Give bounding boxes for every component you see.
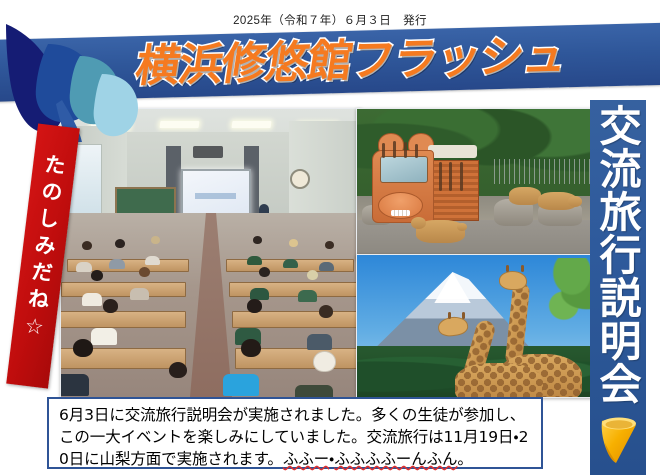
side-band-title: 交流旅行説明会 — [592, 104, 642, 405]
photo-lecture-hall — [60, 108, 362, 398]
article-body: 6月3日に交流旅行説明会が実施されました。多くの生徒が参加し、この一大イベントを… — [59, 404, 533, 470]
photo-giraffes-mount-fuji — [356, 254, 603, 398]
side-band-subtitle: 友だち作ろうぜ！ — [656, 72, 660, 224]
photo-collage — [60, 108, 600, 396]
article-misspelling-a: ふふー — [283, 450, 329, 468]
article-line-3-plain: 実施されます。 — [177, 450, 283, 468]
masthead-title: 横浜修悠館フラッシュ — [133, 34, 570, 89]
side-title-band: 交流旅行説明会 — [590, 100, 646, 475]
article-misspelling-b: ふふふふーんふん — [334, 450, 457, 468]
photo-safari-park — [356, 108, 603, 260]
megaphone-icon — [596, 415, 640, 467]
article-line-3-end: 。 — [457, 450, 472, 468]
article-text-box: 6月3日に交流旅行説明会が実施されました。多くの生徒が参加し、この一大イベントを… — [47, 397, 543, 469]
newsletter-page: 2025年（令和７年）６月３日 発行 横浜修悠館フラッシュ — [0, 0, 660, 475]
